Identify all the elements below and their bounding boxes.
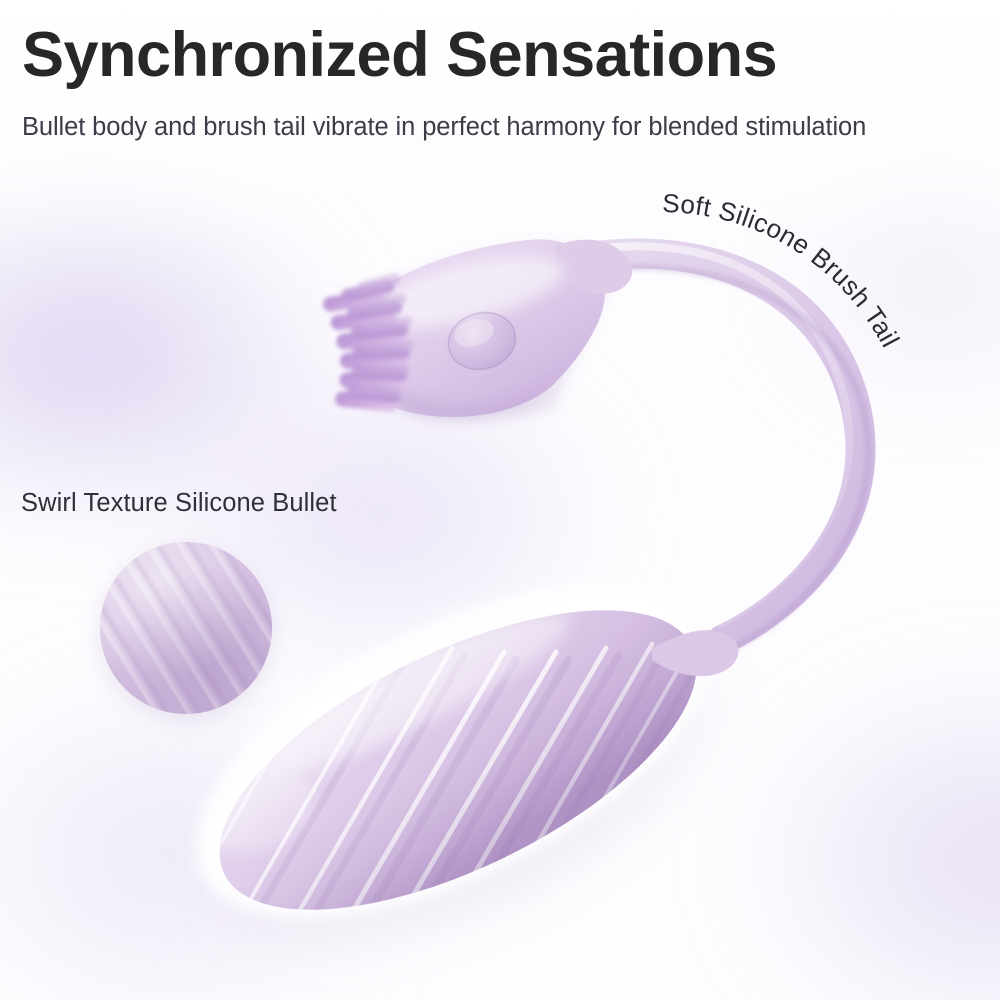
page-subtitle: Bullet body and brush tail vibrate in pe… xyxy=(22,113,982,142)
swirl-inset-shading xyxy=(100,542,272,714)
page-title: Synchronized Sensations xyxy=(22,22,978,88)
callout-label-bullet: Swirl Texture Silicone Bullet xyxy=(21,489,337,518)
product-feature-image: Synchronized Sensations Bullet body and … xyxy=(0,0,1000,1000)
swirl-texture-zoom-inset xyxy=(100,542,272,714)
